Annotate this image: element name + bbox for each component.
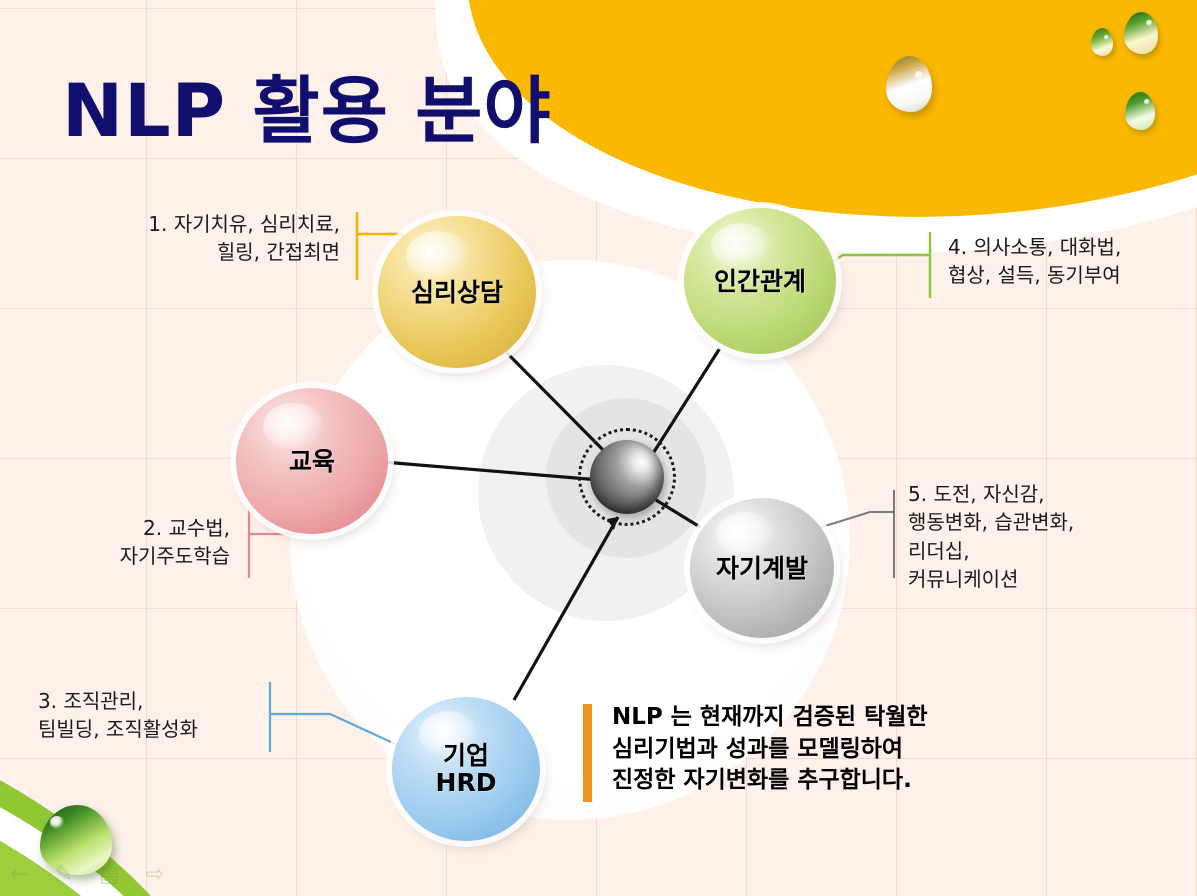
annotation-2: 2. 교수법, 자기주도학습 [50, 514, 230, 571]
water-droplet-small-c [1125, 92, 1155, 130]
nav-forward-icon[interactable]: ⇨ [146, 862, 164, 887]
nav-pen-icon[interactable]: ✎ [54, 862, 72, 887]
slide-nav-icons[interactable]: ← ✎ ▤ ⇨ [10, 862, 164, 887]
node-label: 심리상담 [411, 279, 503, 306]
node-corporate-hrd[interactable]: 기업 HRD [392, 697, 540, 841]
node-label: 교육 [289, 448, 335, 475]
annotation-5: 5. 도전, 자신감, 행동변화, 습관변화, 리더십, 커뮤니케이션 [908, 480, 1168, 594]
quote-accent-bar [583, 704, 592, 802]
node-education[interactable]: 교육 [236, 388, 388, 534]
water-droplet-small-b [1124, 12, 1158, 54]
nav-back-icon[interactable]: ← [10, 862, 28, 887]
page-title: NLP 활용 분야 [62, 52, 552, 158]
node-label: 자기계발 [716, 555, 808, 582]
node-label: 기업 HRD [436, 742, 497, 796]
quote-text: NLP 는 현재까지 검증된 탁월한 심리기법과 성과를 모델링하여 진정한 자… [612, 702, 928, 797]
annotation-1: 1. 자기치유, 심리치료, 힐링, 간접최면 [70, 210, 340, 267]
node-self-development[interactable]: 자기계발 [690, 498, 834, 638]
nav-menu-icon[interactable]: ▤ [99, 862, 120, 887]
annotation-4: 4. 의사소통, 대화법, 협상, 설득, 동기부여 [948, 233, 1197, 290]
center-hub-sphere[interactable] [590, 440, 664, 514]
node-psychological-counseling[interactable]: 심리상담 [378, 216, 536, 368]
water-droplet-large [886, 56, 932, 112]
annotation-3: 3. 조직관리, 팀빌딩, 조직활성화 [38, 687, 268, 744]
node-human-relations[interactable]: 인간관계 [684, 208, 836, 354]
node-label: 인간관계 [714, 268, 806, 295]
water-droplet-small-a [1091, 28, 1113, 56]
slide-canvas: ← ✎ ▤ ⇨ NLP 활용 분야 심리상담 [0, 0, 1197, 896]
